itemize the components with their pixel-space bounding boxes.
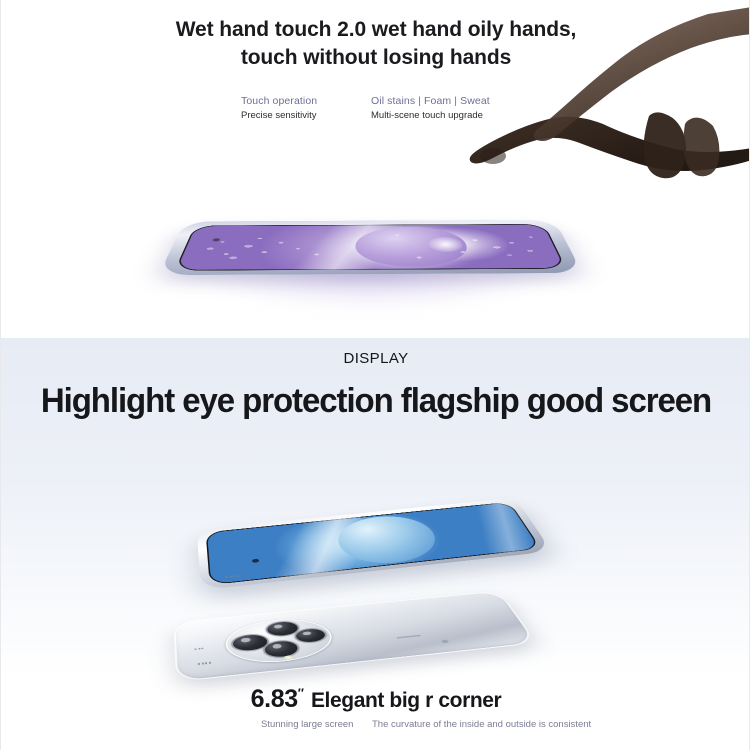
wet-hand-title-line2: touch without losing hands	[1, 44, 750, 72]
display-headline: Highlight eye protection flagship good s…	[12, 382, 740, 421]
feature-head-touch-operation: Touch operation	[241, 94, 345, 108]
water-droplets	[174, 224, 566, 271]
front-phone-body	[197, 498, 552, 590]
screen-size-caption: Elegant big r corner	[311, 689, 501, 712]
wet-hand-touch-section: Wet hand touch 2.0 wet hand oily hands, …	[1, 0, 750, 338]
purple-phone-body	[158, 220, 582, 275]
caption-stunning-large-screen: Stunning large screen	[261, 718, 353, 732]
display-eyebrow-label: DISPLAY	[1, 350, 750, 367]
feature-column-touch-operation: Touch operation Precise sensitivity	[241, 94, 345, 123]
wet-hand-title: Wet hand touch 2.0 wet hand oily hands, …	[1, 16, 750, 72]
screen-size-value: 6.83″	[251, 685, 304, 713]
back-phone-body	[173, 591, 537, 683]
product-page: Wet hand touch 2.0 wet hand oily hands, …	[0, 0, 750, 750]
screen-size-headline: 6.83″Elegant big r corner	[1, 685, 750, 714]
purple-phone-image	[151, 148, 591, 288]
front-screen-arc-right	[424, 502, 541, 565]
camera-flash	[283, 655, 294, 660]
feature-column-oil-stains: Oil stains | Foam | Sweat Multi-scene to…	[371, 94, 481, 123]
feature-sub-oil-stains: Multi-scene touch upgrade	[371, 109, 481, 123]
feature-columns: Touch operation Precise sensitivity Oil …	[241, 94, 481, 123]
front-phone-screen	[206, 502, 542, 585]
caption-curvature: The curvature of the inside and outside …	[372, 718, 591, 732]
feature-head-oil-stains: Oil stains | Foam | Sweat	[371, 94, 481, 108]
display-section: DISPLAY Highlight eye protection flagshi…	[1, 338, 750, 750]
wet-hand-title-line1: Wet hand touch 2.0 wet hand oily hands,	[1, 16, 750, 44]
feature-sub-touch-operation: Precise sensitivity	[241, 109, 345, 123]
phone-pair-image	[161, 458, 591, 688]
purple-phone-screen	[174, 224, 566, 271]
inch-mark: ″	[298, 686, 304, 701]
